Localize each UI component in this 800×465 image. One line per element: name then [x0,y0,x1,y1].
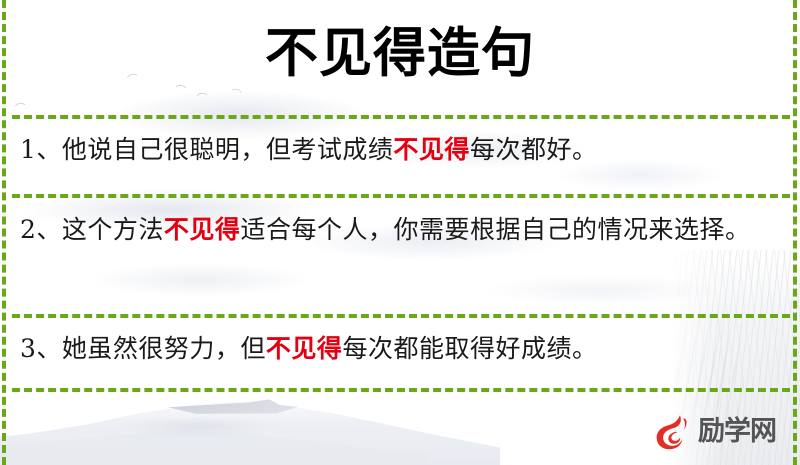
divider-above-sentence-1 [12,115,790,119]
sentence-2-keyword: 不见得 [164,215,241,244]
sentence-3-keyword: 不见得 [266,334,343,363]
background-ink-boat [168,398,298,420]
background-bird-icon: ︵ [195,85,207,97]
divider-between-2-and-3 [12,314,790,318]
sentence-item-1: 1、他说自己很聪明，但考试成绩不见得每次都好。 [20,129,776,171]
watermark-logo: 励学网 [652,412,776,452]
sentence-2-before: 这个方法 [62,215,164,244]
background-mountain-ridge [0,392,500,465]
divider-below-sentence-3 [12,388,790,392]
sentence-1-keyword: 不见得 [393,135,470,164]
sentence-3-after: 每次都能取得好成绩。 [342,334,597,363]
page-title: 不见得造句 [0,22,800,84]
sentence-3-before: 她虽然很努力，但 [62,334,266,363]
background-bird-icon: ︵ [13,95,26,108]
red-swirl-flame-icon [652,412,692,452]
background-mountain-ridge-lower [0,424,430,465]
watermark-text: 励学网 [698,417,776,447]
sentence-1-index: 1、 [20,135,62,164]
background-water-wake [92,412,302,442]
sentence-2-index: 2、 [20,215,62,244]
sentence-3-index: 3、 [20,334,62,363]
sentence-2-after: 适合每个人，你需要根据自己的情况来选择。 [240,215,750,244]
divider-between-1-and-2 [12,194,790,198]
sentence-item-2: 2、这个方法不见得适合每个人，你需要根据自己的情况来选择。 [20,209,776,251]
sentence-1-before: 他说自己很聪明，但考试成绩 [62,135,394,164]
sentence-1-after: 每次都好。 [470,135,598,164]
sentence-item-3: 3、她虽然很努力，但不见得每次都能取得好成绩。 [20,328,776,370]
poster-canvas: ︵ ︵ ︵ ︵ ︵ 不见得造句 1、他说自己很聪明，但考试成绩不见得每次都好。 … [0,0,800,465]
